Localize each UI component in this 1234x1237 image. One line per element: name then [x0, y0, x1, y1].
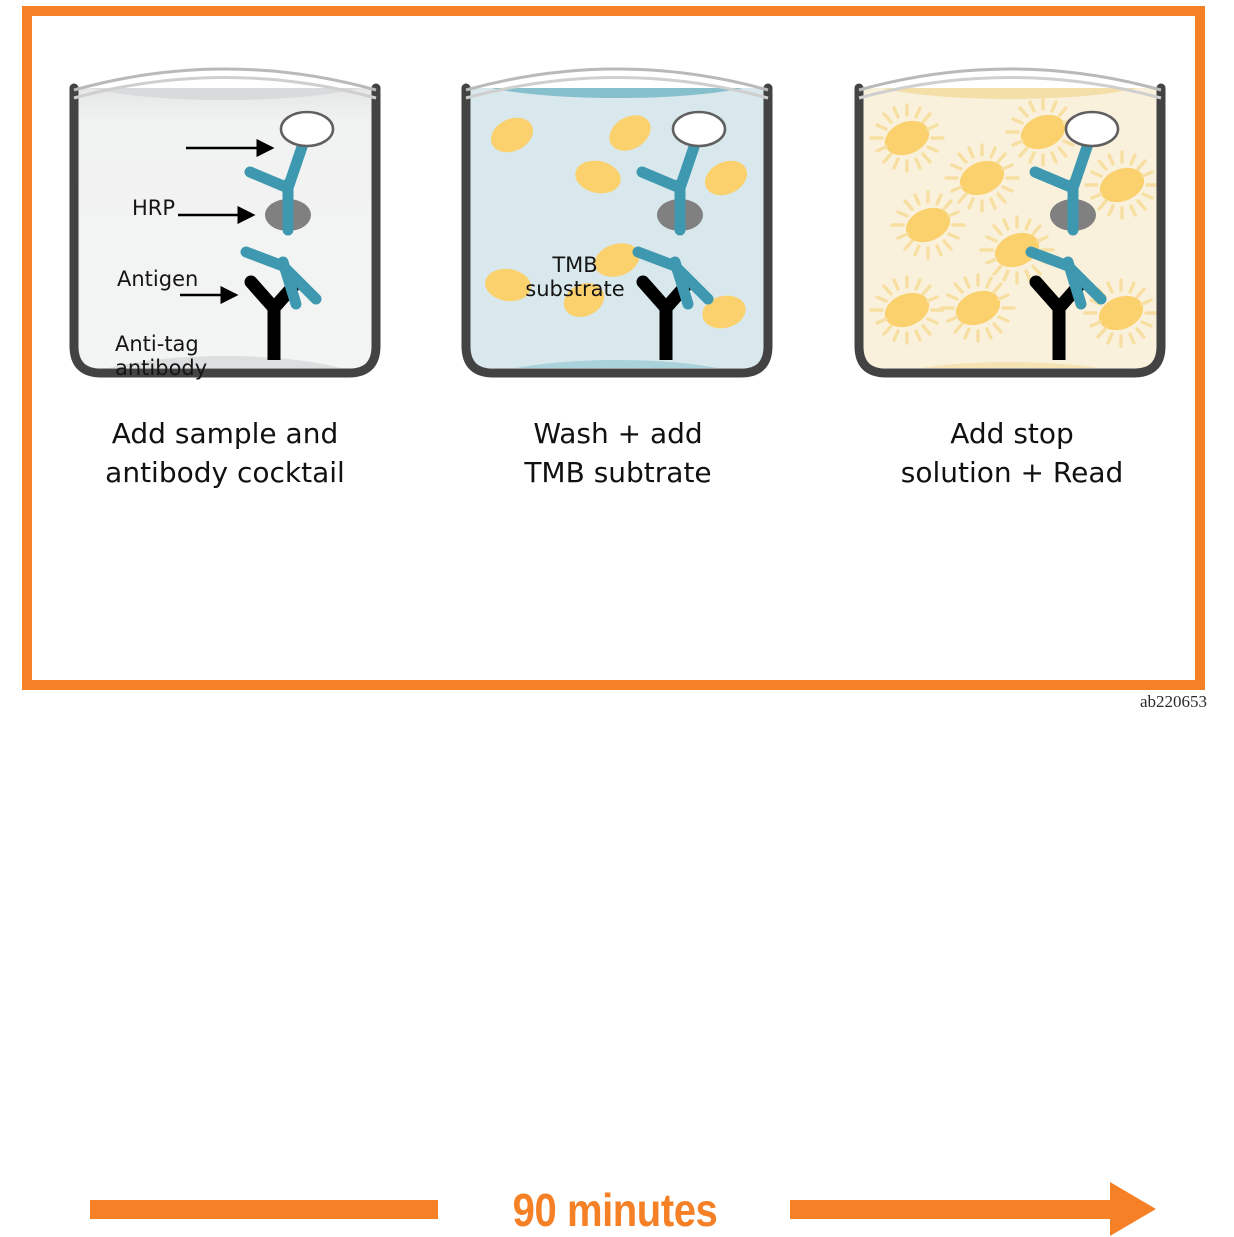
well-2-graphic [452, 60, 782, 390]
timeline: 90 minutes [0, 585, 1234, 665]
catalog-code: ab220653 [1140, 692, 1207, 712]
label-tmb-substrate: TMB substrate [510, 253, 640, 302]
well-step-3 [845, 60, 1175, 390]
timeline-duration-label: 90 minutes [460, 1183, 770, 1237]
caption-step-1: Add sample and antibody cocktail [25, 415, 425, 492]
label-anti-tag-antibody: Anti-tag antibody [115, 332, 207, 381]
well-1-graphic [60, 60, 390, 390]
timeline-arrow-icon [1110, 1182, 1156, 1236]
label-antigen: Antigen [117, 267, 198, 291]
hrp-enzyme-icon [673, 112, 725, 146]
well-3-graphic [845, 60, 1175, 390]
hrp-enzyme-icon [1066, 112, 1118, 146]
caption-step-3: Add stop solution + Read [812, 415, 1212, 492]
hrp-enzyme-icon [281, 112, 333, 146]
caption-step-2: Wash + add TMB subtrate [418, 415, 818, 492]
well-step-2: TMB substrate [452, 60, 782, 390]
wells-row: HRP Antigen Anti-tag antibody [0, 0, 1234, 400]
timeline-bar-right [790, 1200, 1115, 1219]
figure-canvas: HRP Antigen Anti-tag antibody [0, 0, 1234, 720]
well-step-1: HRP Antigen Anti-tag antibody [60, 60, 390, 390]
timeline-bar-left [90, 1200, 438, 1219]
label-hrp: HRP [132, 196, 175, 220]
